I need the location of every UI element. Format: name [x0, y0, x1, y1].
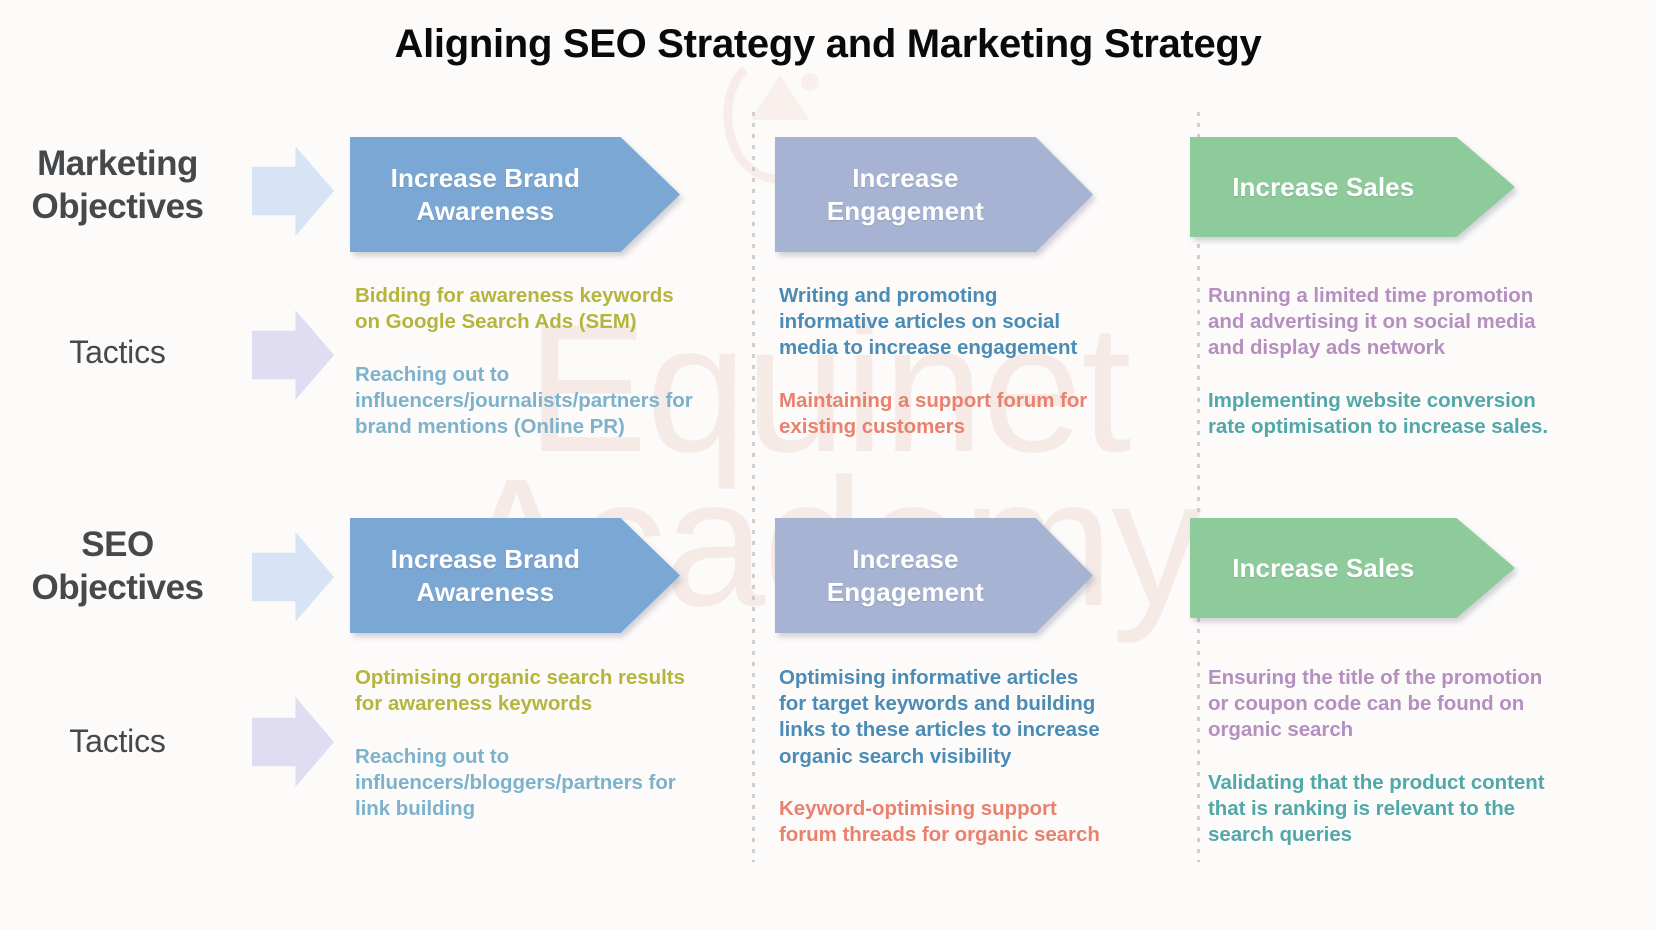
objective-chevron-seo-brand-awareness[interactable]: Increase BrandAwareness: [350, 518, 680, 633]
tactic-item: Reaching out to influencers/journalists/…: [355, 362, 693, 441]
page-title: Aligning SEO Strategy and Marketing Stra…: [0, 22, 1656, 67]
tactics-seo-column-1: Optimising organic search results for aw…: [355, 665, 693, 822]
tactic-item: Ensuring the title of the promotion or c…: [1208, 665, 1553, 744]
tactic-item: Running a limited time promotion and adv…: [1208, 283, 1553, 362]
pointer-arrow-seo-tactics: [252, 697, 334, 787]
tactic-item: Optimising informative articles for targ…: [779, 665, 1109, 770]
tactics-marketing-column-1: Bidding for awareness keywords on Google…: [355, 283, 693, 440]
pointer-arrow-marketing-tactics: [252, 310, 334, 400]
objective-label: Increase Sales: [1190, 171, 1457, 204]
objective-label: Increase Sales: [1190, 552, 1457, 585]
objective-label: IncreaseEngagement: [775, 162, 1036, 227]
tactic-item: Maintaining a support forum for existing…: [779, 388, 1109, 440]
objective-label: IncreaseEngagement: [775, 543, 1036, 608]
row-label-seo-tactics: Tactics: [10, 722, 225, 761]
tactics-marketing-column-2: Writing and promoting informative articl…: [779, 283, 1109, 440]
objective-chevron-marketing-sales[interactable]: Increase Sales: [1190, 137, 1515, 237]
pointer-arrow-marketing-objectives: [252, 146, 334, 236]
tactics-seo-column-3: Ensuring the title of the promotion or c…: [1208, 665, 1553, 849]
tactic-item: Bidding for awareness keywords on Google…: [355, 283, 693, 335]
objective-chevron-seo-sales[interactable]: Increase Sales: [1190, 518, 1515, 618]
tactic-item: Writing and promoting informative articl…: [779, 283, 1109, 362]
objective-chevron-marketing-brand-awareness[interactable]: Increase BrandAwareness: [350, 137, 680, 252]
tactics-marketing-column-3: Running a limited time promotion and adv…: [1208, 283, 1553, 440]
row-label-marketing-objectives: MarketingObjectives: [10, 143, 225, 228]
column-divider-1: [752, 112, 755, 862]
objective-label: Increase BrandAwareness: [350, 543, 621, 608]
tactic-item: Validating that the product content that…: [1208, 770, 1553, 849]
pointer-arrow-seo-objectives: [252, 532, 334, 622]
tactic-item: Reaching out to influencers/bloggers/par…: [355, 744, 693, 823]
objective-chevron-seo-engagement[interactable]: IncreaseEngagement: [775, 518, 1093, 633]
tactics-seo-column-2: Optimising informative articles for targ…: [779, 665, 1109, 849]
objective-chevron-marketing-engagement[interactable]: IncreaseEngagement: [775, 137, 1093, 252]
tactic-item: Implementing website conversion rate opt…: [1208, 388, 1553, 440]
objective-label: Increase BrandAwareness: [350, 162, 621, 227]
row-label-seo-objectives: SEOObjectives: [10, 524, 225, 609]
row-label-marketing-tactics: Tactics: [10, 333, 225, 372]
tactic-item: Optimising organic search results for aw…: [355, 665, 693, 717]
tactic-item: Keyword-optimising support forum threads…: [779, 796, 1109, 848]
